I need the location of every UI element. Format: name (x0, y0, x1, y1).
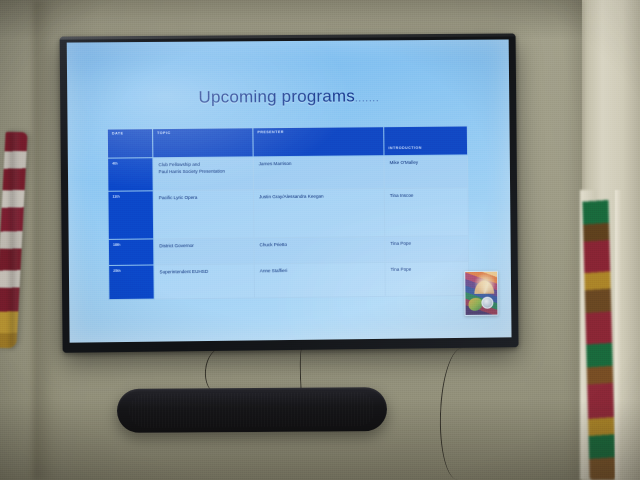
upcoming-programs-table: DATE TOPIC PRESENTER INTRODUCTION 4th Cl… (107, 125, 470, 300)
cell-introduction: Tina Pope (385, 236, 469, 263)
poster-disc-shape (481, 297, 493, 309)
table-header-row: DATE TOPIC PRESENTER INTRODUCTION (107, 126, 467, 158)
cell-topic: Pacific Lyric Opera (153, 190, 254, 239)
slide-title-ellipsis: ....... (355, 93, 380, 103)
floor-shadow (0, 400, 640, 480)
slide-title: Upcoming programs....... (67, 85, 509, 109)
cell-introduction: Tina Inscoe (384, 188, 468, 237)
slide-title-text: Upcoming programs (198, 86, 355, 106)
cell-presenter: Justin Gray/Alessandra Keegan (253, 189, 384, 238)
column-header-date: DATE (107, 129, 153, 158)
table-row: 18th District Governor Chuck Prietto Tin… (108, 236, 468, 266)
table-row: 4th Club Fellowship and Paul Harris Soci… (108, 155, 468, 191)
television[interactable]: Upcoming programs....... DATE TOPIC PRES… (60, 33, 519, 352)
cell-date: 11th (108, 191, 154, 240)
tv-screen[interactable]: Upcoming programs....... DATE TOPIC PRES… (67, 39, 512, 342)
cell-introduction: Tina Pope (385, 262, 469, 297)
cell-date: 25th (109, 265, 155, 300)
table-row: 11th Pacific Lyric Opera Justin Gray/Ale… (108, 188, 468, 240)
cell-topic: Club Fellowship and Paul Harris Society … (153, 157, 254, 191)
column-header-presenter: PRESENTER (253, 127, 384, 157)
poster-fan-shape (474, 281, 494, 294)
cell-date: 4th (108, 158, 154, 192)
cell-date: 18th (108, 239, 153, 266)
cell-presenter: James Marrison (253, 156, 384, 190)
cell-topic: District Governor (154, 238, 255, 265)
poster-blob-shape (468, 298, 482, 311)
opera-poster-image (464, 271, 498, 316)
column-header-introduction: INTRODUCTION (384, 126, 468, 156)
cell-introduction: Mike O'Malley (384, 155, 468, 189)
cell-topic-line2: Paul Harris Society Presentation (158, 169, 224, 175)
cell-presenter: Chuck Prietto (254, 237, 385, 264)
cell-topic: Superintendent EUHSD (154, 264, 255, 299)
cell-presenter: Anne Staffieri (254, 262, 385, 297)
room-background: Upcoming programs....... DATE TOPIC PRES… (0, 0, 640, 480)
presentation-slide: Upcoming programs....... DATE TOPIC PRES… (67, 39, 512, 342)
column-header-topic: TOPIC (153, 128, 254, 158)
cell-topic-line1: Club Fellowship and (158, 162, 200, 167)
table-row: 25th Superintendent EUHSD Anne Staffieri… (109, 262, 469, 300)
flag-fold-shadow (10, 132, 18, 348)
